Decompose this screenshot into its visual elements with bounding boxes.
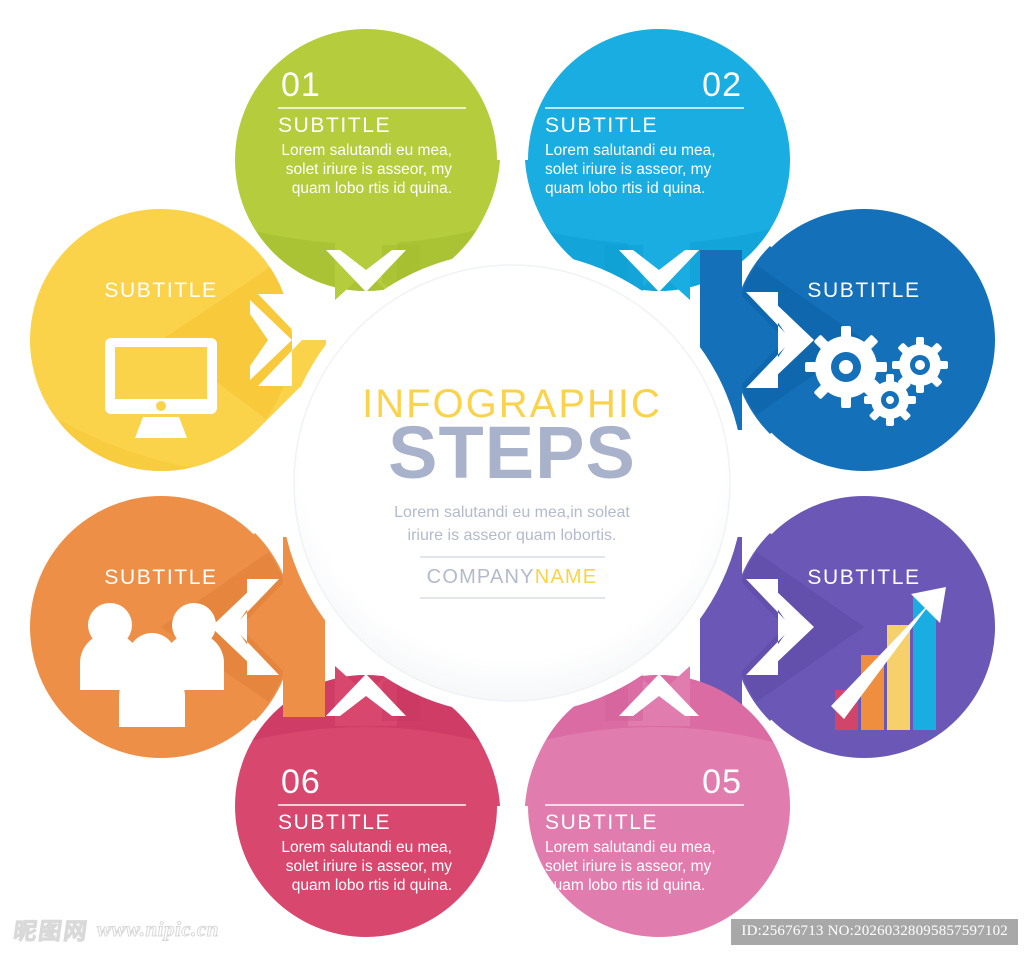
id-badge: ID:25676713 NO:20260328095857597102 bbox=[731, 919, 1018, 945]
petal-body-line1: Lorem salutandi eu mea, bbox=[545, 839, 716, 856]
center-hub: INFOGRAPHIC STEPS Lorem salutandi eu mea… bbox=[280, 251, 744, 715]
petal-body-line1: Lorem salutandi eu mea, bbox=[281, 839, 452, 856]
petal-body-line2: solet iriure is asseor, my bbox=[545, 858, 711, 875]
petal-number: 01 bbox=[281, 66, 321, 104]
petal-subtitle: SUBTITLE bbox=[807, 279, 920, 302]
petal-body-line1: Lorem salutandi eu mea, bbox=[281, 142, 452, 159]
center-title-secondary: STEPS bbox=[388, 411, 636, 494]
petal-body-line2: solet iriure is asseor, my bbox=[286, 858, 452, 875]
petal-number: 05 bbox=[702, 763, 742, 801]
petal-subtitle: SUBTITLE bbox=[807, 566, 920, 589]
petal-subtitle: SUBTITLE bbox=[278, 114, 391, 137]
petal-body-line2: solet iriure is asseor, my bbox=[545, 161, 711, 178]
petal-number: 02 bbox=[702, 66, 742, 104]
center-body-line1: Lorem salutandi eu mea,in soleat bbox=[394, 504, 630, 521]
petal-subtitle: SUBTITLE bbox=[104, 279, 217, 302]
company-prefix: COMPANY bbox=[427, 566, 535, 588]
center-body-line2: iriure is asseor quam lobortis. bbox=[408, 527, 617, 544]
infographic-canvas: SUBTITLE 01 SUBTITLE Lorem salutandi eu … bbox=[0, 0, 1024, 959]
petal-subtitle: SUBTITLE bbox=[278, 811, 391, 834]
petal-subtitle: SUBTITLE bbox=[545, 811, 658, 834]
petal-body-line2: solet iriure is asseor, my bbox=[286, 161, 452, 178]
petal-number: 06 bbox=[281, 763, 321, 801]
company-name: COMPANYNAME bbox=[427, 566, 598, 588]
petal-body-line3: quam lobo rtis id quina. bbox=[545, 180, 705, 197]
company-accent: NAME bbox=[535, 566, 598, 588]
petal-subtitle: SUBTITLE bbox=[545, 114, 658, 137]
petal-body-line3: quam lobo rtis id quina. bbox=[545, 877, 705, 894]
petal-body-line3: quam lobo rtis id quina. bbox=[292, 877, 452, 894]
petal-body-line1: Lorem salutandi eu mea, bbox=[545, 142, 716, 159]
petal-body-line3: quam lobo rtis id quina. bbox=[292, 180, 452, 197]
petal-subtitle: SUBTITLE bbox=[104, 566, 217, 589]
